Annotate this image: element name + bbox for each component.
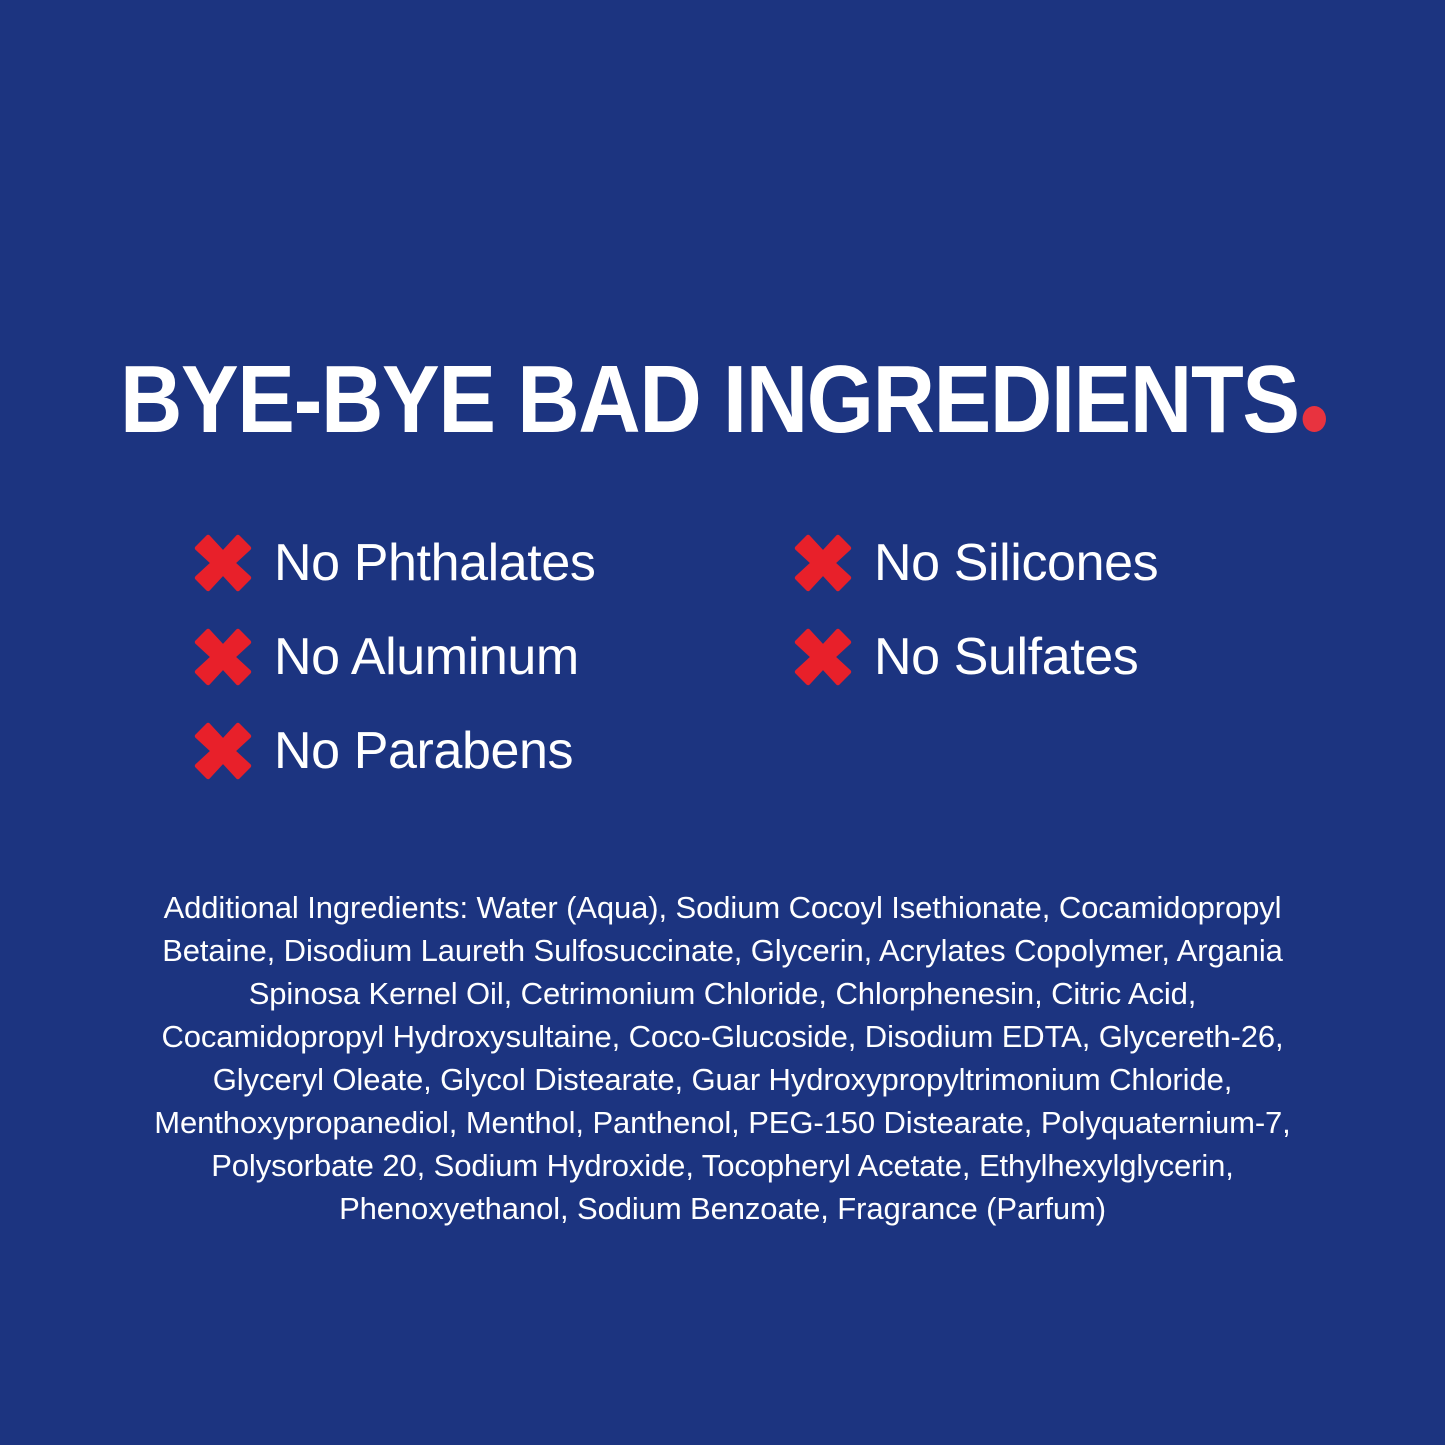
claim-item: No Phthalates [192,516,712,610]
claim-label: No Phthalates [274,537,595,589]
claims-column-right: No Silicones No Sulfates [792,516,1272,704]
claim-item: No Silicones [792,516,1272,610]
claim-label: No Sulfates [874,631,1138,683]
headline-container: BYE-BYE BAD INGREDIENTS [0,352,1445,448]
ingredient-claims-panel: BYE-BYE BAD INGREDIENTS No Phthalates No… [0,0,1445,1445]
claims-column-left: No Phthalates No Aluminum No Parabens [192,516,712,798]
red-x-icon [192,532,254,594]
page-title: BYE-BYE BAD INGREDIENTS [120,352,1326,448]
additional-ingredients-text: Additional Ingredients: Water (Aqua), So… [139,886,1307,1230]
claim-label: No Parabens [274,725,573,777]
red-x-icon [192,626,254,688]
claim-item: No Parabens [192,704,712,798]
red-x-icon [792,626,854,688]
claim-item: No Sulfates [792,610,1272,704]
claim-label: No Aluminum [274,631,579,683]
headline-red-dot-icon [1302,406,1325,432]
red-x-icon [192,720,254,782]
claim-item: No Aluminum [192,610,712,704]
claim-label: No Silicones [874,537,1158,589]
page-title-text: BYE-BYE BAD INGREDIENTS [120,346,1299,453]
red-x-icon [792,532,854,594]
